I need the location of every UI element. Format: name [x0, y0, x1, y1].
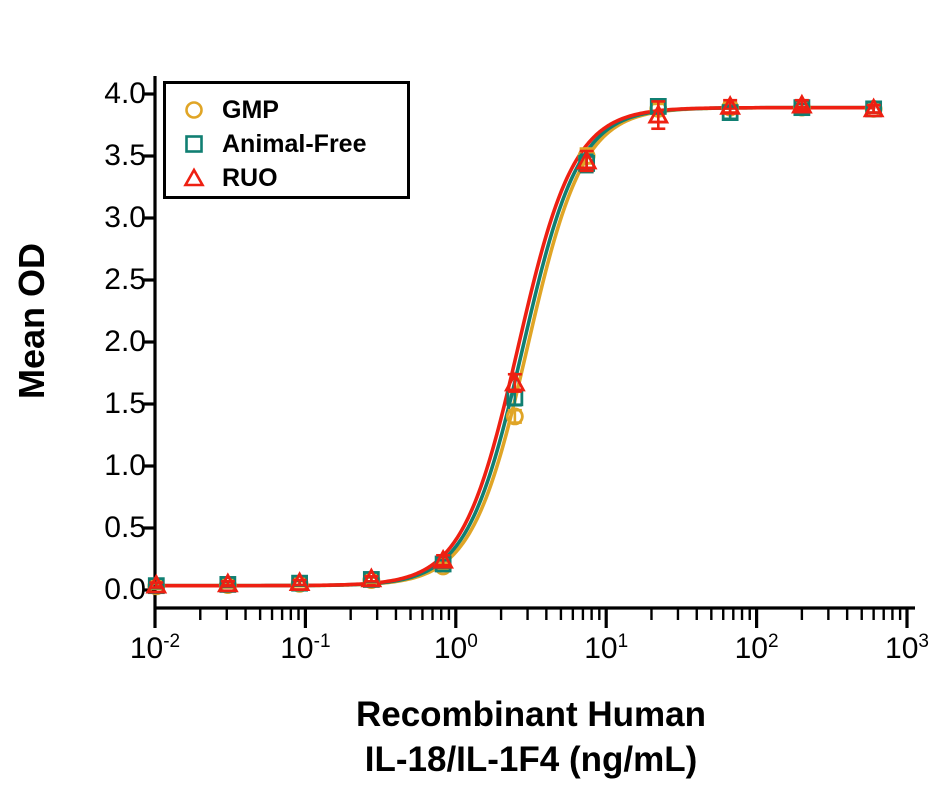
x-axis-title: Recombinant Human IL-18/IL-1F4 (ng/mL)	[155, 692, 907, 782]
x-tick-label: 10-2	[130, 634, 180, 664]
legend: GMPAnimal-FreeRUO	[163, 81, 410, 199]
x-axis-title-line-2: IL-18/IL-1F4 (ng/mL)	[155, 737, 907, 782]
legend-item-animal-free: Animal-Free	[166, 126, 407, 162]
legend-label: RUO	[222, 164, 278, 193]
x-axis-title-line-1: Recombinant Human	[155, 692, 907, 737]
chart-page: Mean OD 0.00.51.01.52.02.53.03.54.0 10-2…	[0, 0, 949, 811]
triangle-marker-icon	[166, 166, 222, 190]
x-tick-label: 103	[885, 634, 929, 664]
x-tick-label: 102	[735, 634, 779, 664]
legend-label: GMP	[222, 96, 279, 125]
x-tick-label: 10-1	[280, 634, 330, 664]
legend-item-ruo: RUO	[166, 160, 407, 196]
square-marker-icon	[166, 132, 222, 156]
x-tick-label: 101	[584, 634, 628, 664]
legend-label: Animal-Free	[222, 130, 366, 159]
circle-marker-icon	[166, 98, 222, 122]
x-tick-label: 100	[434, 634, 478, 664]
legend-item-gmp: GMP	[166, 92, 407, 128]
x-axis-tick-labels: 10-210-1100101102103	[0, 0, 949, 811]
